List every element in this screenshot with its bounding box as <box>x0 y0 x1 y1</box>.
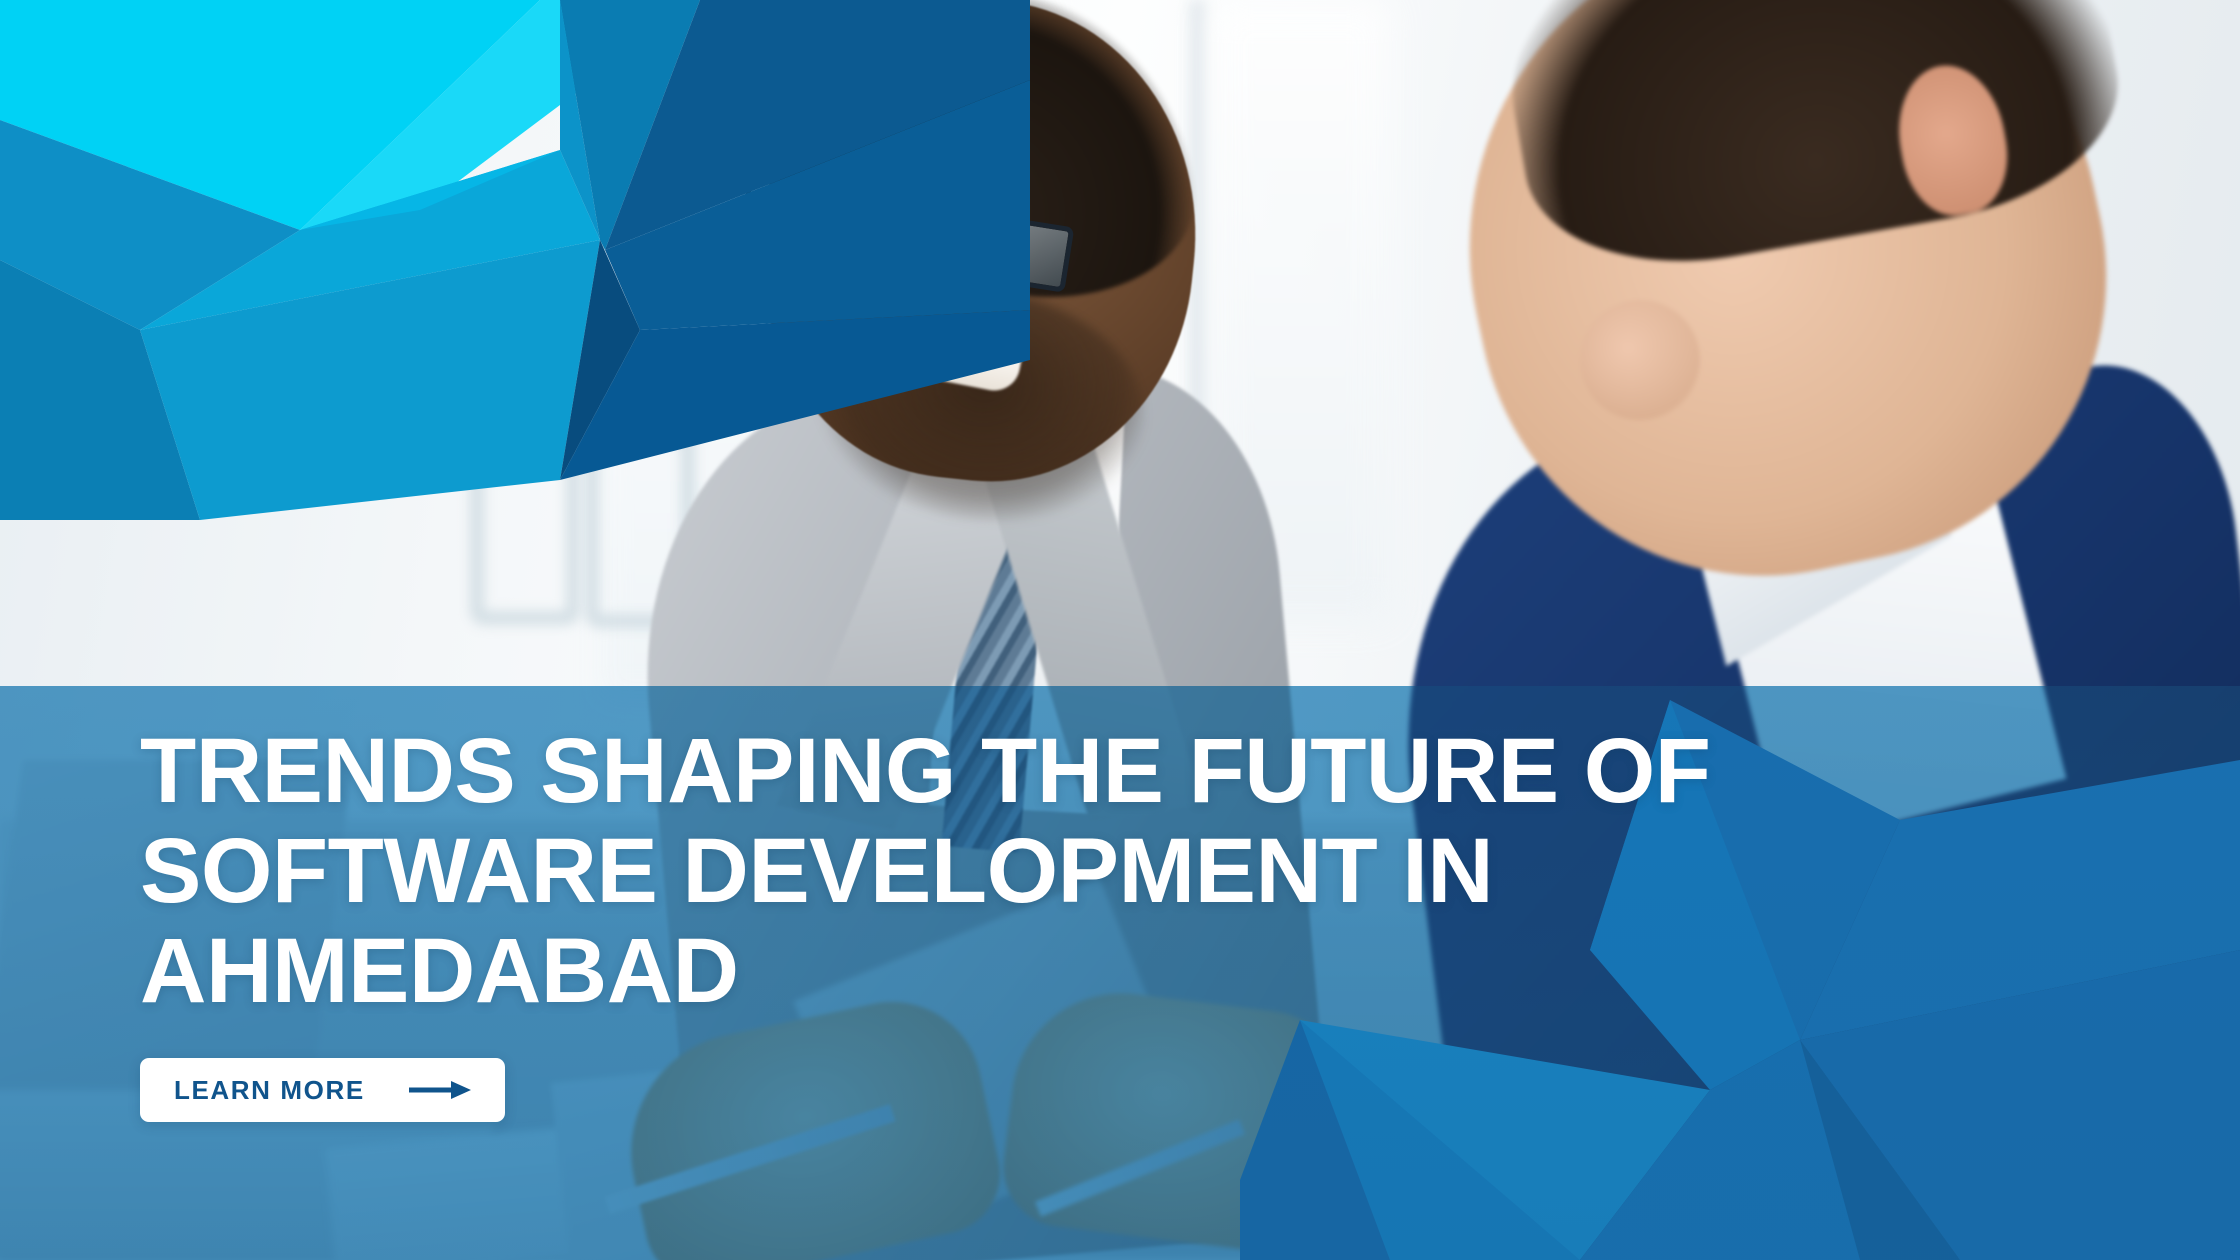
banner-content: Trends Shaping the Future of Software De… <box>140 686 1840 1260</box>
hero-banner: Trends Shaping the Future of Software De… <box>0 0 2240 1260</box>
nose <box>1580 300 1700 420</box>
learn-more-button[interactable]: Learn More <box>140 1058 505 1122</box>
low-poly-top-left <box>0 0 1030 520</box>
page-title: Trends Shaping the Future of Software De… <box>140 722 1820 1021</box>
arrow-right-icon <box>409 1079 471 1101</box>
learn-more-label: Learn More <box>174 1075 365 1106</box>
